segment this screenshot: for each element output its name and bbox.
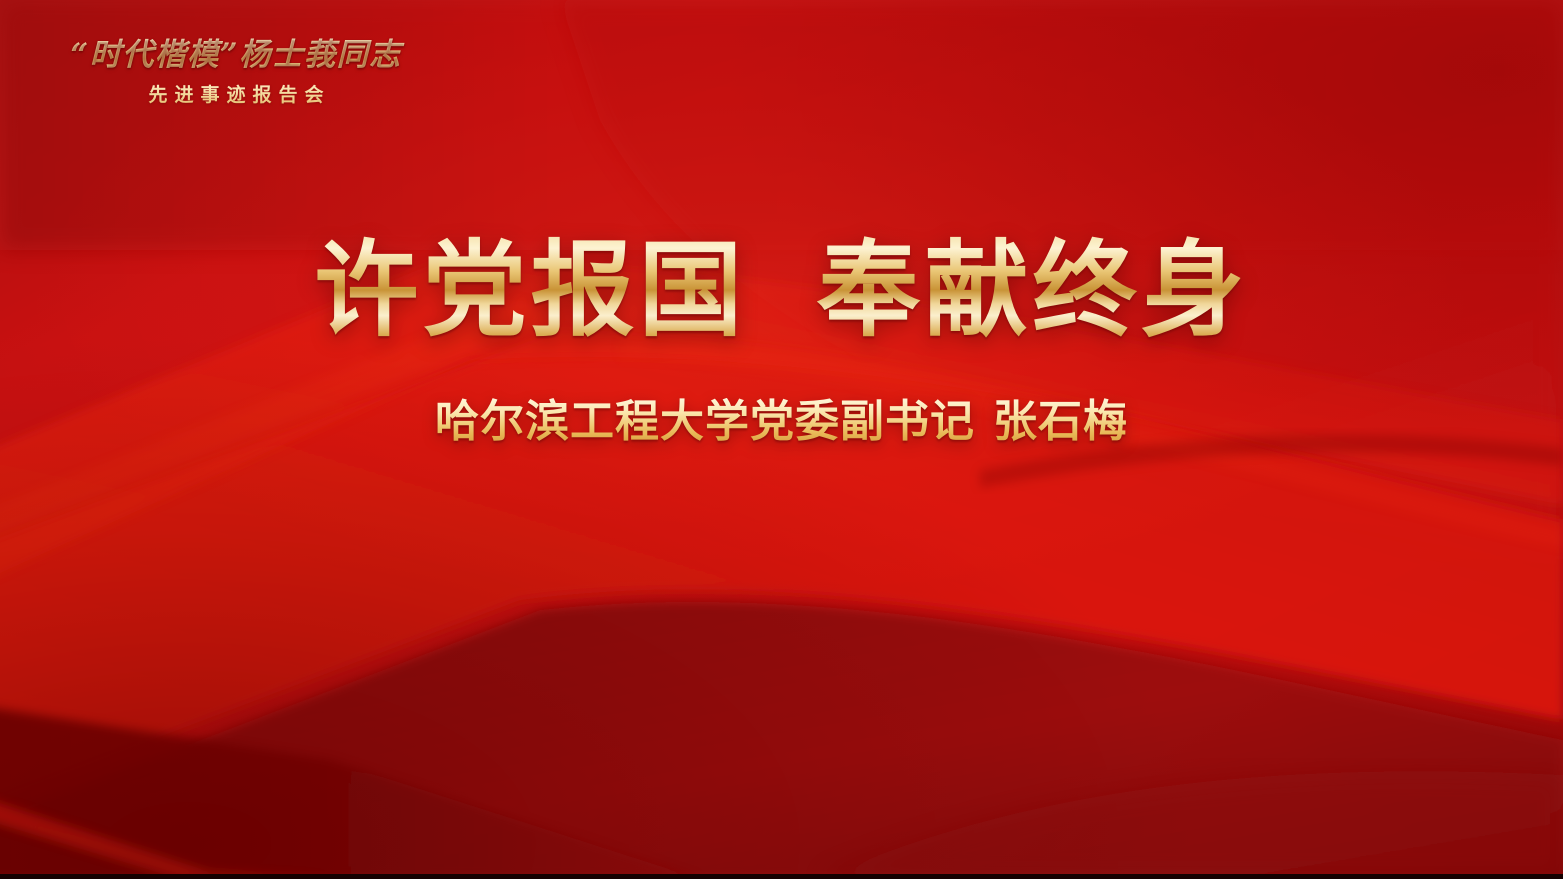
event-header-line1: “时代楷模”杨士莪同志 xyxy=(56,36,416,75)
speaker-name: 张石梅 xyxy=(993,398,1128,446)
main-title-part1: 许党报国 xyxy=(314,232,746,348)
title-slide: “时代楷模”杨士莪同志 先进事迹报告会 许党报国奉献终身 哈尔滨工程大学党委副书… xyxy=(0,0,1563,879)
main-title-part2: 奉献终身 xyxy=(817,232,1249,348)
event-header-line2: 先进事迹报告会 xyxy=(56,80,416,107)
event-header: “时代楷模”杨士莪同志 先进事迹报告会 xyxy=(56,36,416,107)
subtitle-wrap: 哈尔滨工程大学党委副书记张石梅 xyxy=(0,398,1563,446)
speaker-affiliation: 哈尔滨工程大学党委副书记 xyxy=(435,398,975,446)
main-title-wrap: 许党报国奉献终身 xyxy=(0,232,1563,348)
bottom-edge-bar xyxy=(0,874,1563,879)
